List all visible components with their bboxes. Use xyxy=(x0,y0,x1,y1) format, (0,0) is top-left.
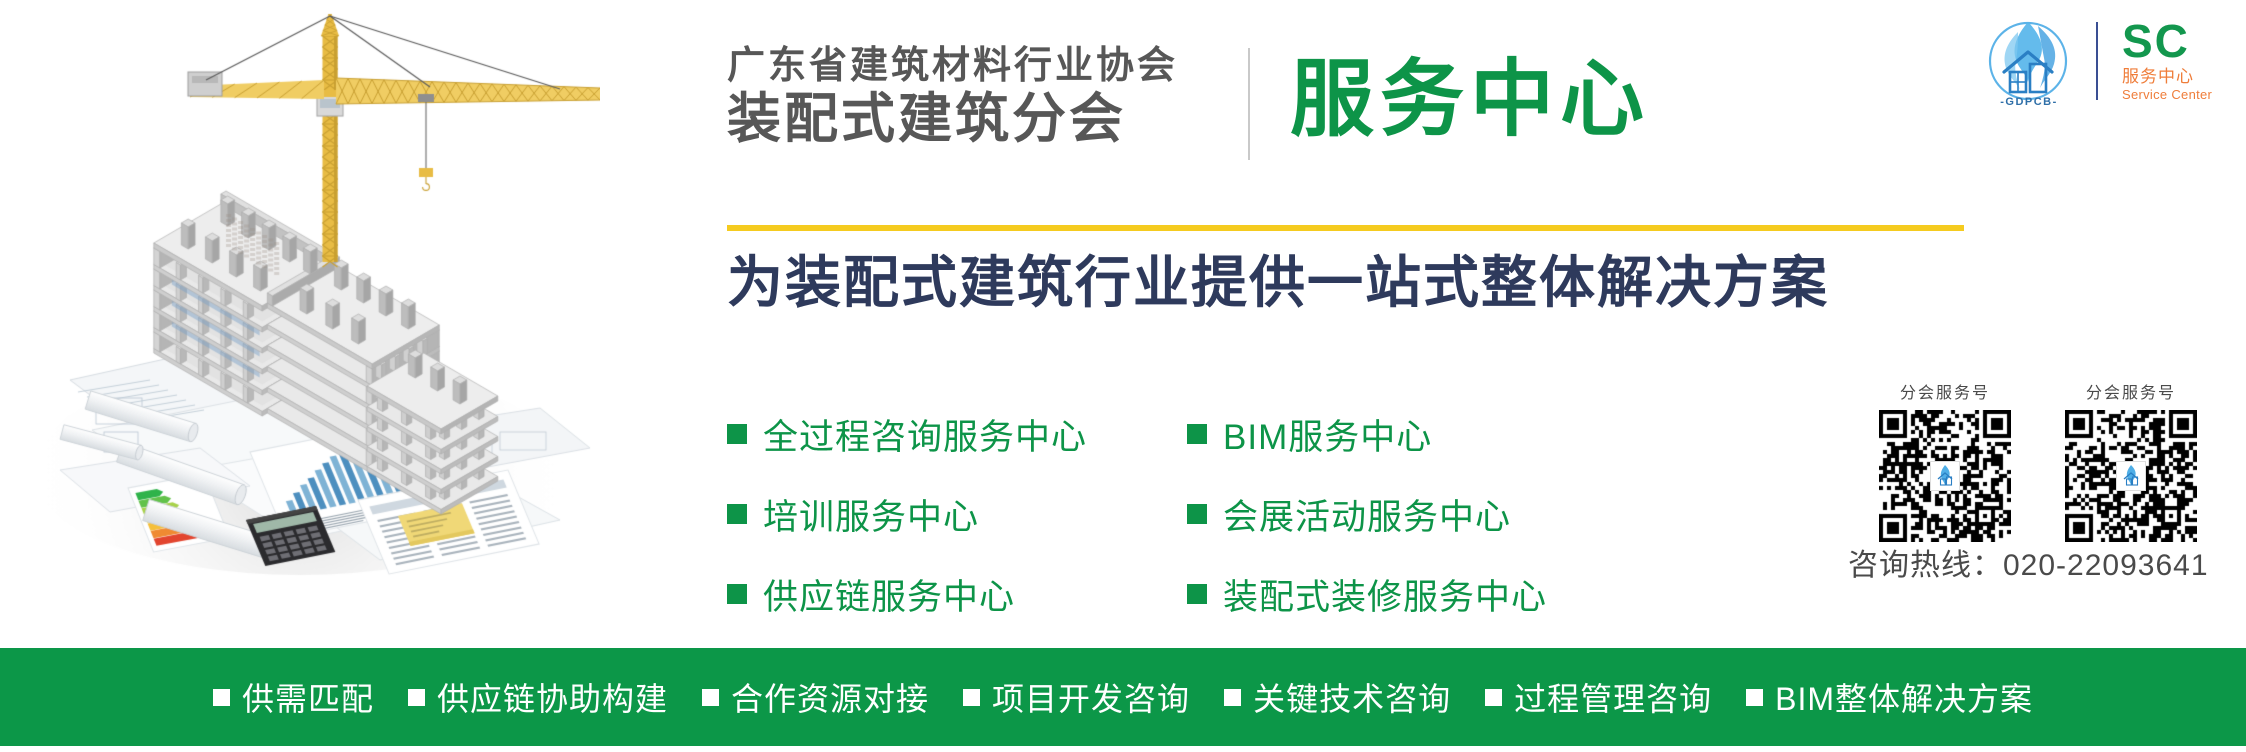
qr-code-image-2[interactable] xyxy=(2065,410,2197,542)
footer-item-bim[interactable]: BIM整体解决方案 xyxy=(1746,674,2033,720)
square-bullet-icon xyxy=(1224,689,1241,706)
square-bullet-icon xyxy=(213,689,230,706)
qr-code-block-1: 分会服务号 xyxy=(1860,384,2030,542)
service-center-heading: 服务中心 xyxy=(1290,44,1650,154)
service-item-label: 会展活动服务中心 xyxy=(1223,489,1511,540)
footer-item-label: 过程管理咨询 xyxy=(1514,674,1712,720)
square-bullet-icon xyxy=(727,504,747,524)
service-column-right: BIM服务中心 会展活动服务中心 装配式装修服务中心 xyxy=(1187,405,1547,645)
service-item-zhuangxiu[interactable]: 装配式装修服务中心 xyxy=(1187,565,1547,623)
footer-service-bar: 供需匹配 供应链协助构建 合作资源对接 项目开发咨询 关键技术咨询 过程管理咨询… xyxy=(0,648,2246,746)
qr-logo-svg xyxy=(2117,462,2145,490)
gdpcb-house-flame-icon: -GDPCB- xyxy=(1972,14,2084,106)
logo-mark-caption: -GDPCB- xyxy=(1974,96,2084,108)
footer-item-label: 供应链协助构建 xyxy=(437,674,668,720)
page-subtitle: 为装配式建筑行业提供一站式整体解决方案 xyxy=(727,247,1829,319)
square-bullet-icon xyxy=(408,689,425,706)
qr-center-logo-icon xyxy=(2116,461,2146,491)
logo-vertical-divider xyxy=(2096,22,2098,100)
banner-root: 广东省建筑材料行业协会 装配式建筑分会 服务中心 为装配式建筑行业提供一站式整体… xyxy=(0,0,2246,752)
footer-item-hezuo[interactable]: 合作资源对接 xyxy=(702,674,929,720)
service-item-peixun[interactable]: 培训服务中心 xyxy=(727,485,1087,543)
square-bullet-icon xyxy=(727,424,747,444)
gdpcb-logo-svg xyxy=(1972,14,2084,106)
sc-initials: SC xyxy=(2122,18,2234,64)
square-bullet-icon xyxy=(1187,504,1207,524)
service-item-bim[interactable]: BIM服务中心 xyxy=(1187,405,1547,463)
service-item-label: BIM服务中心 xyxy=(1223,409,1432,460)
square-bullet-icon xyxy=(1187,584,1207,604)
footer-item-guanjian[interactable]: 关键技术咨询 xyxy=(1224,674,1451,720)
service-item-label: 培训服务中心 xyxy=(763,489,979,540)
square-bullet-icon xyxy=(1187,424,1207,444)
service-item-label: 供应链服务中心 xyxy=(763,569,1015,620)
square-bullet-icon xyxy=(702,689,719,706)
qr-code-block-2: 分会服务号 xyxy=(2046,384,2216,542)
footer-item-label: 关键技术咨询 xyxy=(1253,674,1451,720)
footer-item-gongxu[interactable]: 供需匹配 xyxy=(213,674,374,720)
hotline-text: 咨询热线：020-22093641 xyxy=(1848,540,2209,584)
qr-code-group: 分会服务号 分会服务号 xyxy=(1848,384,2240,564)
qr-caption: 分会服务号 xyxy=(1860,384,2030,404)
qr-caption: 分会服务号 xyxy=(2046,384,2216,404)
footer-item-label: 合作资源对接 xyxy=(731,674,929,720)
square-bullet-icon xyxy=(727,584,747,604)
service-item-quanguocheng[interactable]: 全过程咨询服务中心 xyxy=(727,405,1087,463)
qr-logo-svg xyxy=(1931,462,1959,490)
service-item-label: 装配式装修服务中心 xyxy=(1223,569,1547,620)
square-bullet-icon xyxy=(1485,689,1502,706)
square-bullet-icon xyxy=(963,689,980,706)
service-column-left: 全过程咨询服务中心 培训服务中心 供应链服务中心 xyxy=(727,405,1087,645)
service-item-gongyinglian[interactable]: 供应链服务中心 xyxy=(727,565,1087,623)
footer-item-label: 供需匹配 xyxy=(242,674,374,720)
hero-construction-image xyxy=(0,0,600,640)
footer-item-guocheng[interactable]: 过程管理咨询 xyxy=(1485,674,1712,720)
title-vertical-divider xyxy=(1248,48,1250,160)
footer-item-label: 项目开发咨询 xyxy=(992,674,1190,720)
sc-english-label: Service Center xyxy=(2122,87,2234,103)
sc-chinese-label: 服务中心 xyxy=(2122,66,2234,87)
qr-code-image-1[interactable] xyxy=(1879,410,2011,542)
brand-logo[interactable]: -GDPCB- SC 服务中心 Service Center xyxy=(1972,14,2236,106)
footer-item-gongyinglian[interactable]: 供应链协助构建 xyxy=(408,674,668,720)
square-bullet-icon xyxy=(1746,689,1763,706)
service-item-huizhan[interactable]: 会展活动服务中心 xyxy=(1187,485,1547,543)
qr-center-logo-icon xyxy=(1930,461,1960,491)
hero-illustration xyxy=(0,0,600,640)
footer-item-label: BIM整体解决方案 xyxy=(1775,674,2033,720)
sc-wordmark: SC 服务中心 Service Center xyxy=(2122,18,2234,103)
service-item-label: 全过程咨询服务中心 xyxy=(763,409,1087,460)
yellow-divider-rule xyxy=(727,225,1964,231)
footer-item-xiangmu[interactable]: 项目开发咨询 xyxy=(963,674,1190,720)
